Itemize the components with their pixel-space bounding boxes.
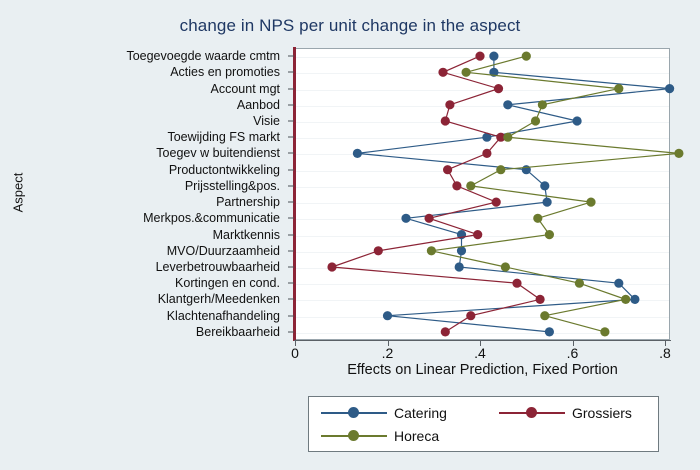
gridline — [295, 73, 669, 74]
legend-swatch-icon — [499, 406, 565, 420]
legend-label: Horeca — [394, 428, 439, 444]
y-axis-tick-mark — [288, 72, 294, 73]
gridline — [295, 252, 669, 253]
legend-item-catering[interactable]: Catering — [321, 405, 447, 421]
plot-area — [295, 48, 670, 340]
gridline — [295, 219, 669, 220]
y-axis-tick-label: Toegevoegde waarde cmtm — [126, 49, 280, 63]
gridline — [295, 154, 669, 155]
gridline — [295, 284, 669, 285]
y-axis-tick-label: Marktkennis — [213, 228, 280, 242]
y-axis-tick-label: Partnership — [216, 195, 280, 209]
y-axis-tick-mark — [288, 283, 294, 284]
legend: CateringGrossiersHoreca — [308, 396, 659, 452]
y-axis-tick-mark — [288, 121, 294, 122]
x-axis-tick-label: .4 — [474, 345, 486, 361]
y-axis-tick-label: Productontwikkeling — [169, 163, 280, 177]
y-axis-tick-label: Leverbetrouwbaarheid — [156, 260, 280, 274]
y-axis-tick-mark — [288, 137, 294, 138]
legend-marker-dot — [348, 430, 359, 441]
y-axis-tick-label: Kortingen en cond. — [175, 276, 280, 290]
y-axis-tick-mark — [288, 218, 294, 219]
gridline — [295, 300, 669, 301]
gridline — [295, 333, 669, 334]
y-axis-tick-mark — [288, 299, 294, 300]
y-axis-tick-label: Klantgerh/Meedenken — [158, 292, 280, 306]
y-axis-tick-mark — [288, 104, 294, 105]
x-axis-tick-label: .6 — [567, 345, 579, 361]
y-axis-tick-mark — [288, 153, 294, 154]
y-axis-tick-mark — [288, 250, 294, 251]
legend-swatch-icon — [321, 406, 387, 420]
y-axis-tick-label: Merkpos.&communicatie — [143, 211, 280, 225]
y-axis-tick-mark — [288, 56, 294, 57]
y-axis-tick-mark — [288, 331, 294, 332]
page-title: change in NPS per unit change in the asp… — [0, 16, 700, 36]
legend-label: Grossiers — [572, 405, 632, 421]
y-axis-tick-label: Toewijding FS markt — [167, 130, 280, 144]
y-axis-tick-mark — [288, 202, 294, 203]
gridline — [295, 203, 669, 204]
y-axis-tick-label: Aanbod — [237, 98, 280, 112]
legend-label: Catering — [394, 405, 447, 421]
y-axis-tick-label: Klachtenafhandeling — [167, 309, 280, 323]
gridline — [295, 90, 669, 91]
gridline — [295, 171, 669, 172]
legend-item-horeca[interactable]: Horeca — [321, 428, 439, 444]
y-axis-tick-label: Prijsstelling&pos. — [185, 179, 280, 193]
y-axis-tick-label: MVO/Duurzaamheid — [167, 244, 280, 258]
legend-marker-dot — [348, 407, 359, 418]
zero-reference-line — [293, 47, 296, 341]
y-axis-tick-mark — [288, 234, 294, 235]
y-axis-tick-mark — [288, 169, 294, 170]
data-point — [674, 149, 683, 158]
x-axis-tick-label: 0 — [291, 345, 299, 361]
gridline — [295, 106, 669, 107]
y-axis-tick-label: Bereikbaarheid — [196, 325, 280, 339]
chart-canvas: change in NPS per unit change in the asp… — [0, 0, 700, 470]
gridline — [295, 236, 669, 237]
y-axis-tick-mark — [288, 185, 294, 186]
gridline — [295, 317, 669, 318]
legend-item-grossiers[interactable]: Grossiers — [499, 405, 632, 421]
y-axis-tick-mark — [288, 267, 294, 268]
y-axis-tick-labels: Toegevoegde waarde cmtmActies en promoti… — [0, 48, 288, 340]
x-axis-title: Effects on Linear Prediction, Fixed Port… — [295, 362, 670, 378]
y-axis-tick-mark — [288, 315, 294, 316]
y-axis-tick-mark — [288, 88, 294, 89]
y-axis-tick-label: Account mgt — [211, 82, 280, 96]
x-axis-tick-label: .2 — [382, 345, 394, 361]
y-axis-tick-label: Acties en promoties — [170, 65, 280, 79]
gridline — [295, 122, 669, 123]
legend-marker-dot — [526, 407, 537, 418]
gridline — [295, 138, 669, 139]
gridline — [295, 187, 669, 188]
y-axis-tick-label: Visie — [253, 114, 280, 128]
gridline — [295, 57, 669, 58]
gridline — [295, 268, 669, 269]
x-axis-tick-label: .8 — [659, 345, 671, 361]
legend-swatch-icon — [321, 429, 387, 443]
x-axis-line — [294, 340, 671, 341]
y-axis-tick-label: Toegev w buitendienst — [156, 146, 280, 160]
